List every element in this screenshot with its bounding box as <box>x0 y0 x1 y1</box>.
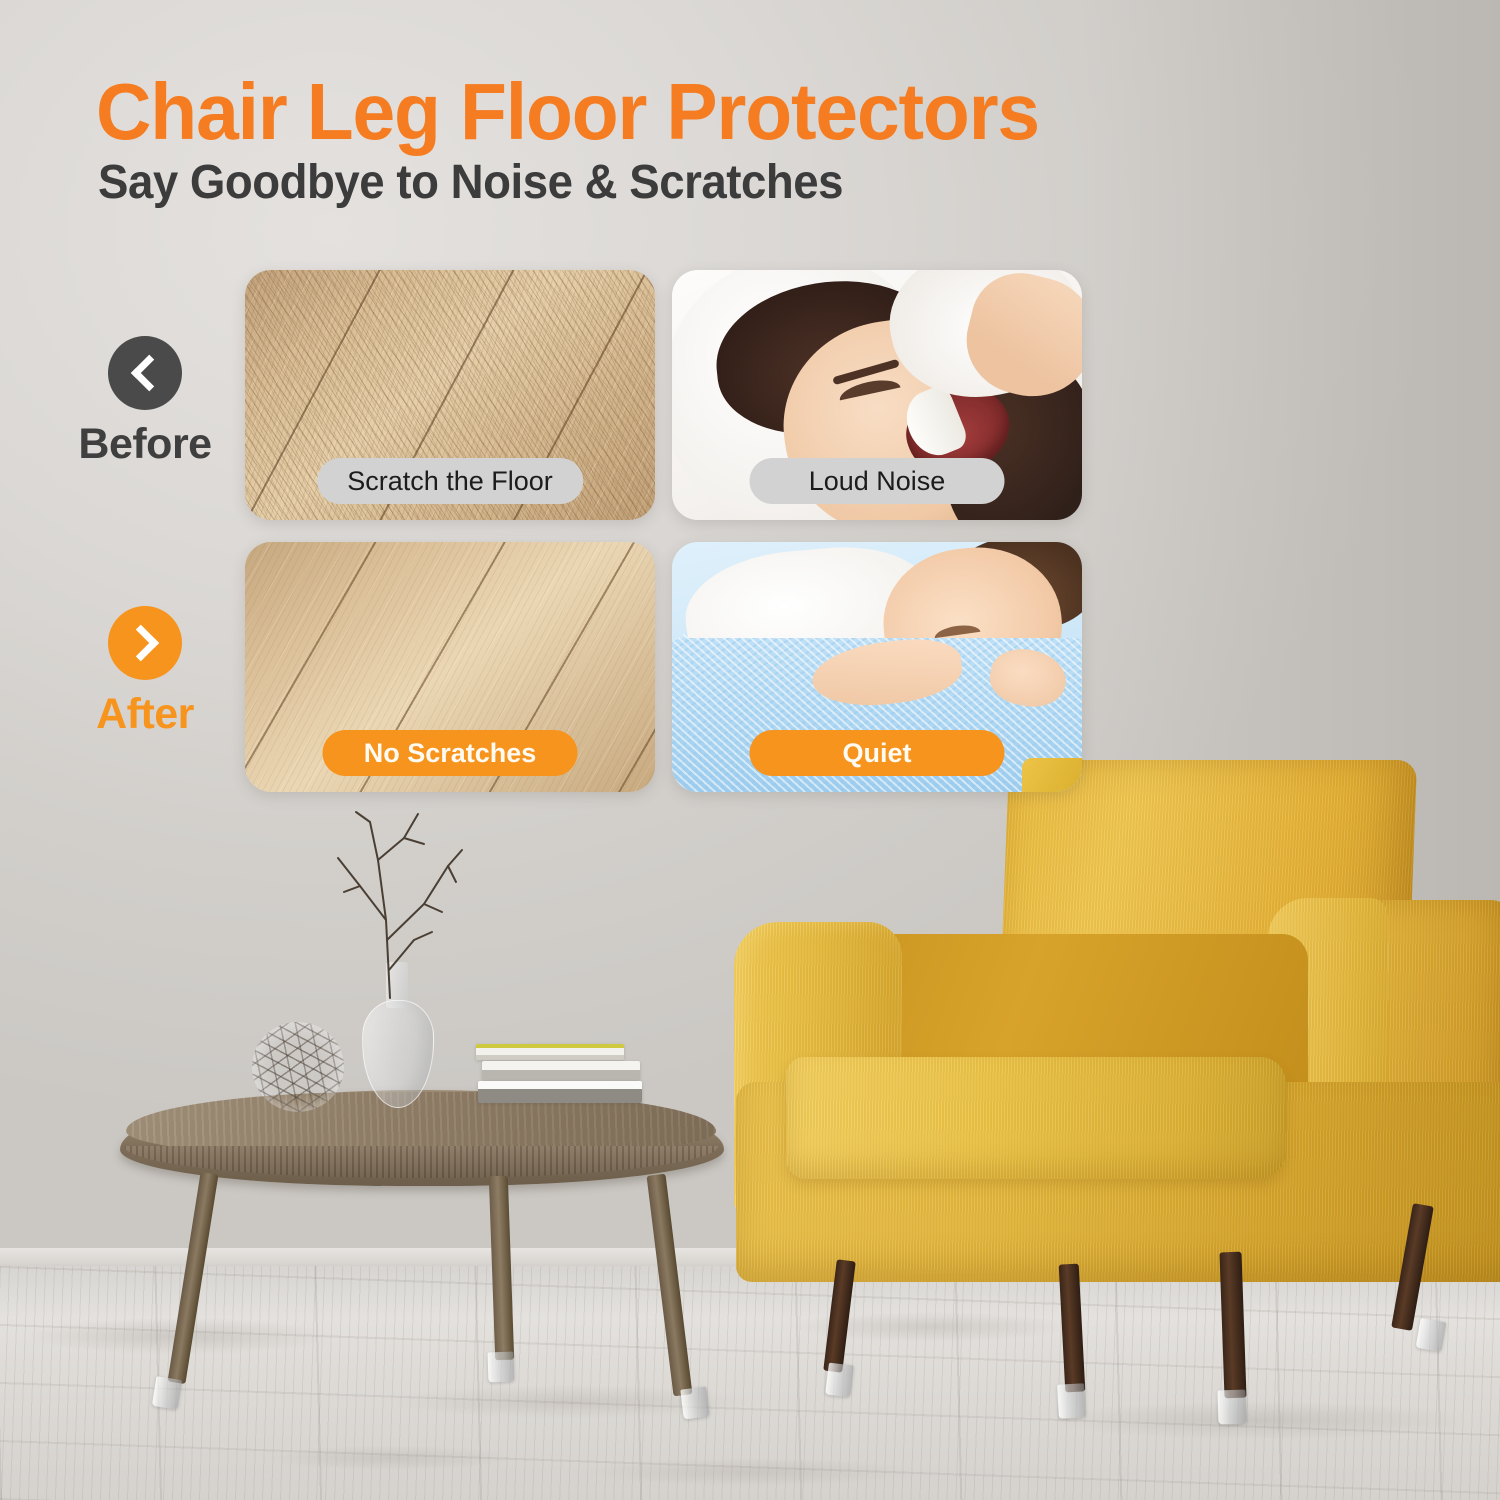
caption-loud-noise: Loud Noise <box>750 458 1005 504</box>
after-label-group: After <box>50 606 240 739</box>
card-quiet: Quiet <box>672 542 1082 792</box>
card-loud-noise: Loud Noise <box>672 270 1082 520</box>
page-title: Chair Leg Floor Protectors <box>96 66 1039 158</box>
chevron-left-icon <box>108 336 182 410</box>
before-label-text: Before <box>50 420 240 469</box>
page-subtitle: Say Goodbye to Noise & Scratches <box>98 155 843 210</box>
card-scratch-the-floor: Scratch the Floor <box>245 270 655 520</box>
card-no-scratches: No Scratches <box>245 542 655 792</box>
before-label-group: Before <box>50 336 240 469</box>
after-label-text: After <box>50 690 240 739</box>
caption-scratch-the-floor: Scratch the Floor <box>317 458 583 504</box>
chair-corner-peek <box>1022 758 1082 792</box>
caption-no-scratches: No Scratches <box>323 730 578 776</box>
caption-quiet: Quiet <box>750 730 1005 776</box>
chevron-right-icon <box>108 606 182 680</box>
marketing-overlay: Chair Leg Floor Protectors Say Goodbye t… <box>0 0 1500 1500</box>
